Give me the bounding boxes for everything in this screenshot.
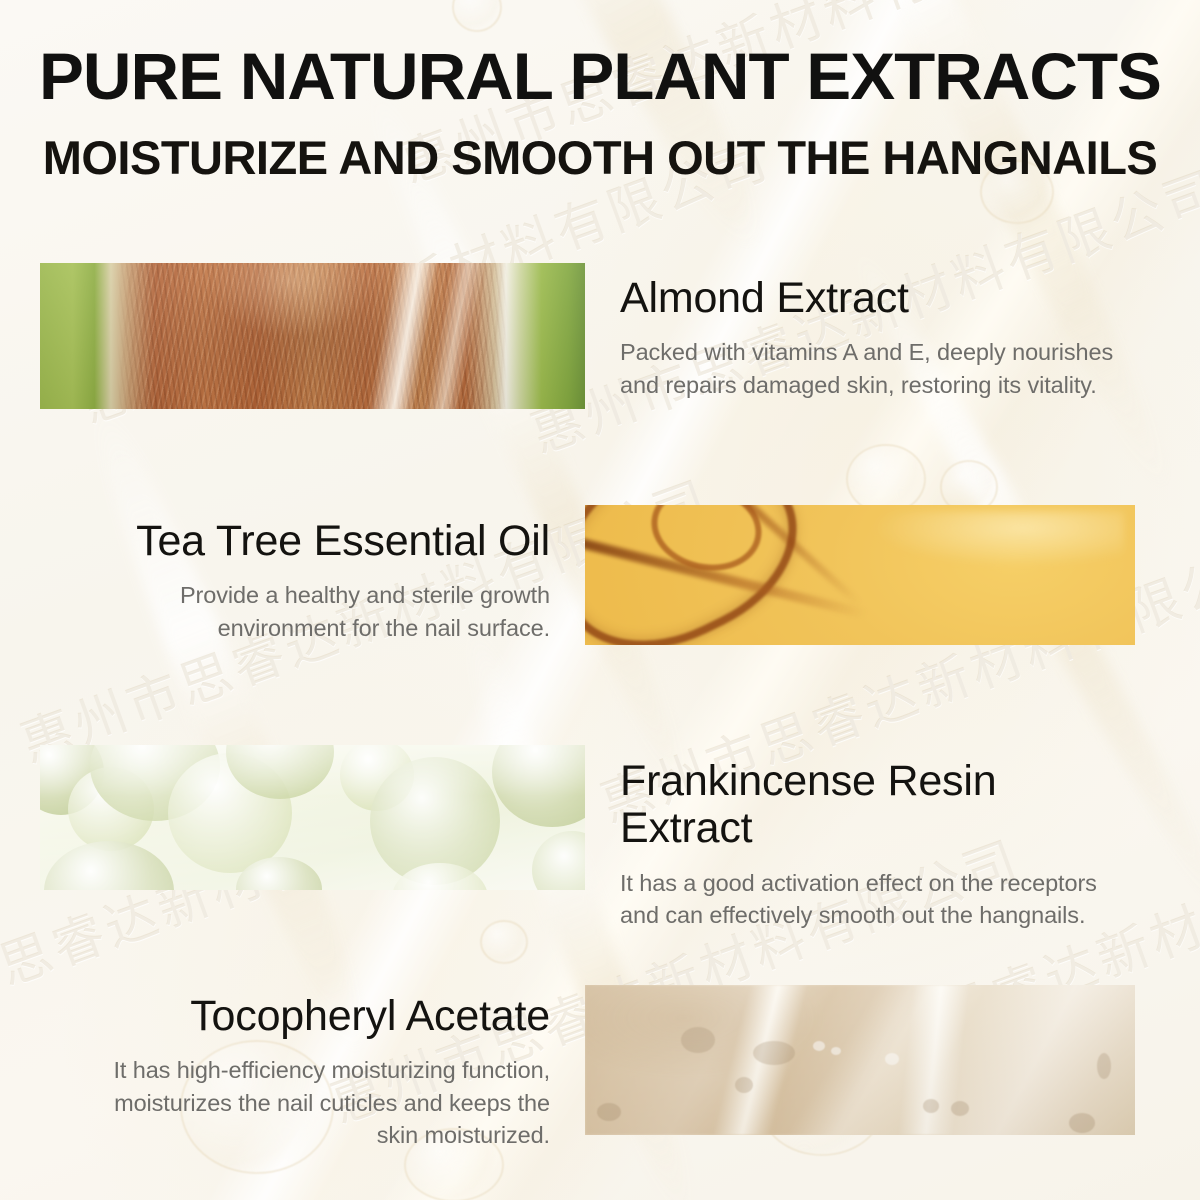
cream-bubble xyxy=(753,1041,795,1065)
cream-bubble xyxy=(831,1047,841,1055)
ingredient-row-tocopheryl: Tocopheryl Acetate It has high-efficienc… xyxy=(0,0,1200,1200)
cream-bubble xyxy=(681,1027,715,1053)
ingredient-title: Tocopheryl Acetate xyxy=(70,993,550,1040)
cream-bubble xyxy=(1097,1053,1111,1079)
cream-bubble xyxy=(735,1077,753,1093)
ingredient-description: It has high-efficiency moisturizing func… xyxy=(70,1054,550,1151)
cream-bubble xyxy=(885,1053,899,1065)
cream-bubble xyxy=(597,1103,621,1121)
product-ingredient-infographic: 惠州市思睿达新材料有限公司 惠州市思睿达新材料有限公司 惠州市思睿达新材料有限公… xyxy=(0,0,1200,1200)
tocopheryl-text-block: Tocopheryl Acetate It has high-efficienc… xyxy=(70,993,550,1152)
cream-bubble xyxy=(1069,1113,1095,1133)
cream-bubble xyxy=(813,1041,825,1051)
cream-bubble xyxy=(951,1101,969,1116)
cream-bubble xyxy=(923,1099,939,1113)
tocopheryl-cream-texture-photo xyxy=(585,985,1135,1135)
